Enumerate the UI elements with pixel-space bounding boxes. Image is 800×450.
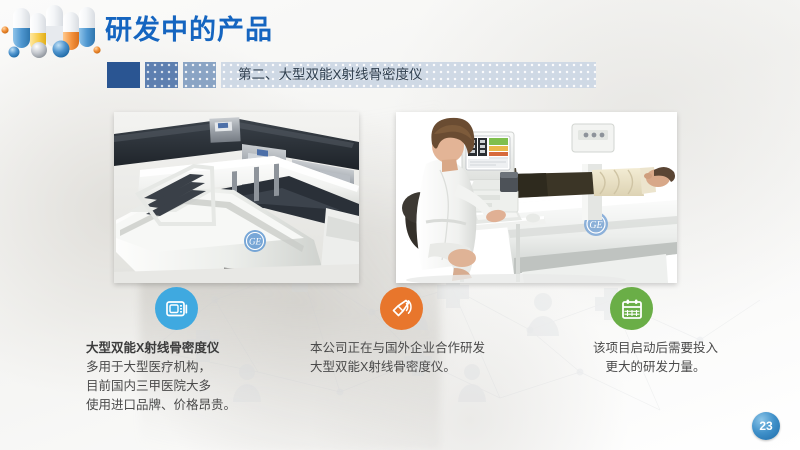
info-column-3: 该项目启动后需要投入 更大的研发力量。 — [548, 287, 763, 377]
svg-text:GE: GE — [589, 220, 602, 231]
info-column-3-text: 该项目启动后需要投入 更大的研发力量。 — [548, 339, 763, 377]
info-column-3-line-1: 该项目启动后需要投入 — [548, 339, 763, 358]
info-column-2-line-1: 本公司正在与国外企业合作研发 — [310, 339, 525, 358]
info-column-1-line-2: 多用于大型医疗机构， — [86, 358, 301, 377]
info-column-2: 本公司正在与国外企业合作研发 大型双能X射线骨密度仪。 — [310, 287, 525, 377]
info-column-3-line-2: 更大的研发力量。 — [548, 358, 763, 377]
scanner-monitor-icon — [155, 287, 198, 330]
subtitle-square-2 — [145, 62, 178, 88]
subtitle-square-3 — [183, 62, 216, 88]
svg-text:GE: GE — [249, 237, 261, 247]
info-column-1-line-3: 目前国内三甲医院大多 — [86, 377, 301, 396]
subtitle-square-1 — [107, 62, 140, 88]
info-column-1-line-1: 大型双能X射线骨密度仪 — [86, 339, 301, 358]
subtitle-field: 第二、大型双能X射线骨密度仪 — [221, 62, 596, 88]
info-column-1-text: 大型双能X射线骨密度仪 多用于大型医疗机构， 目前国内三甲医院大多 使用进口品牌… — [86, 339, 301, 415]
megaphone-icon — [380, 287, 423, 330]
calendar-icon — [610, 287, 653, 330]
photo-dxa-scanner-operation: GE — [396, 112, 677, 283]
page-number-badge: 23 — [752, 412, 780, 440]
section-subtitle-text: 第二、大型双能X射线骨密度仪 — [238, 62, 423, 88]
page-title: 研发中的产品 — [105, 12, 273, 48]
capsules-decoration — [0, 0, 104, 62]
info-column-1-line-4: 使用进口品牌、价格昂贵。 — [86, 396, 301, 415]
info-column-2-line-2: 大型双能X射线骨密度仪。 — [310, 358, 525, 377]
photo-bone-densitometer-closeup: GE — [114, 112, 359, 283]
slide-canvas: 研发中的产品 第二、大型双能X射线骨密度仪 — [0, 0, 800, 450]
section-subtitle-bar: 第二、大型双能X射线骨密度仪 — [107, 62, 596, 88]
info-column-1: 大型双能X射线骨密度仪 多用于大型医疗机构， 目前国内三甲医院大多 使用进口品牌… — [86, 287, 301, 415]
info-column-2-text: 本公司正在与国外企业合作研发 大型双能X射线骨密度仪。 — [310, 339, 525, 377]
